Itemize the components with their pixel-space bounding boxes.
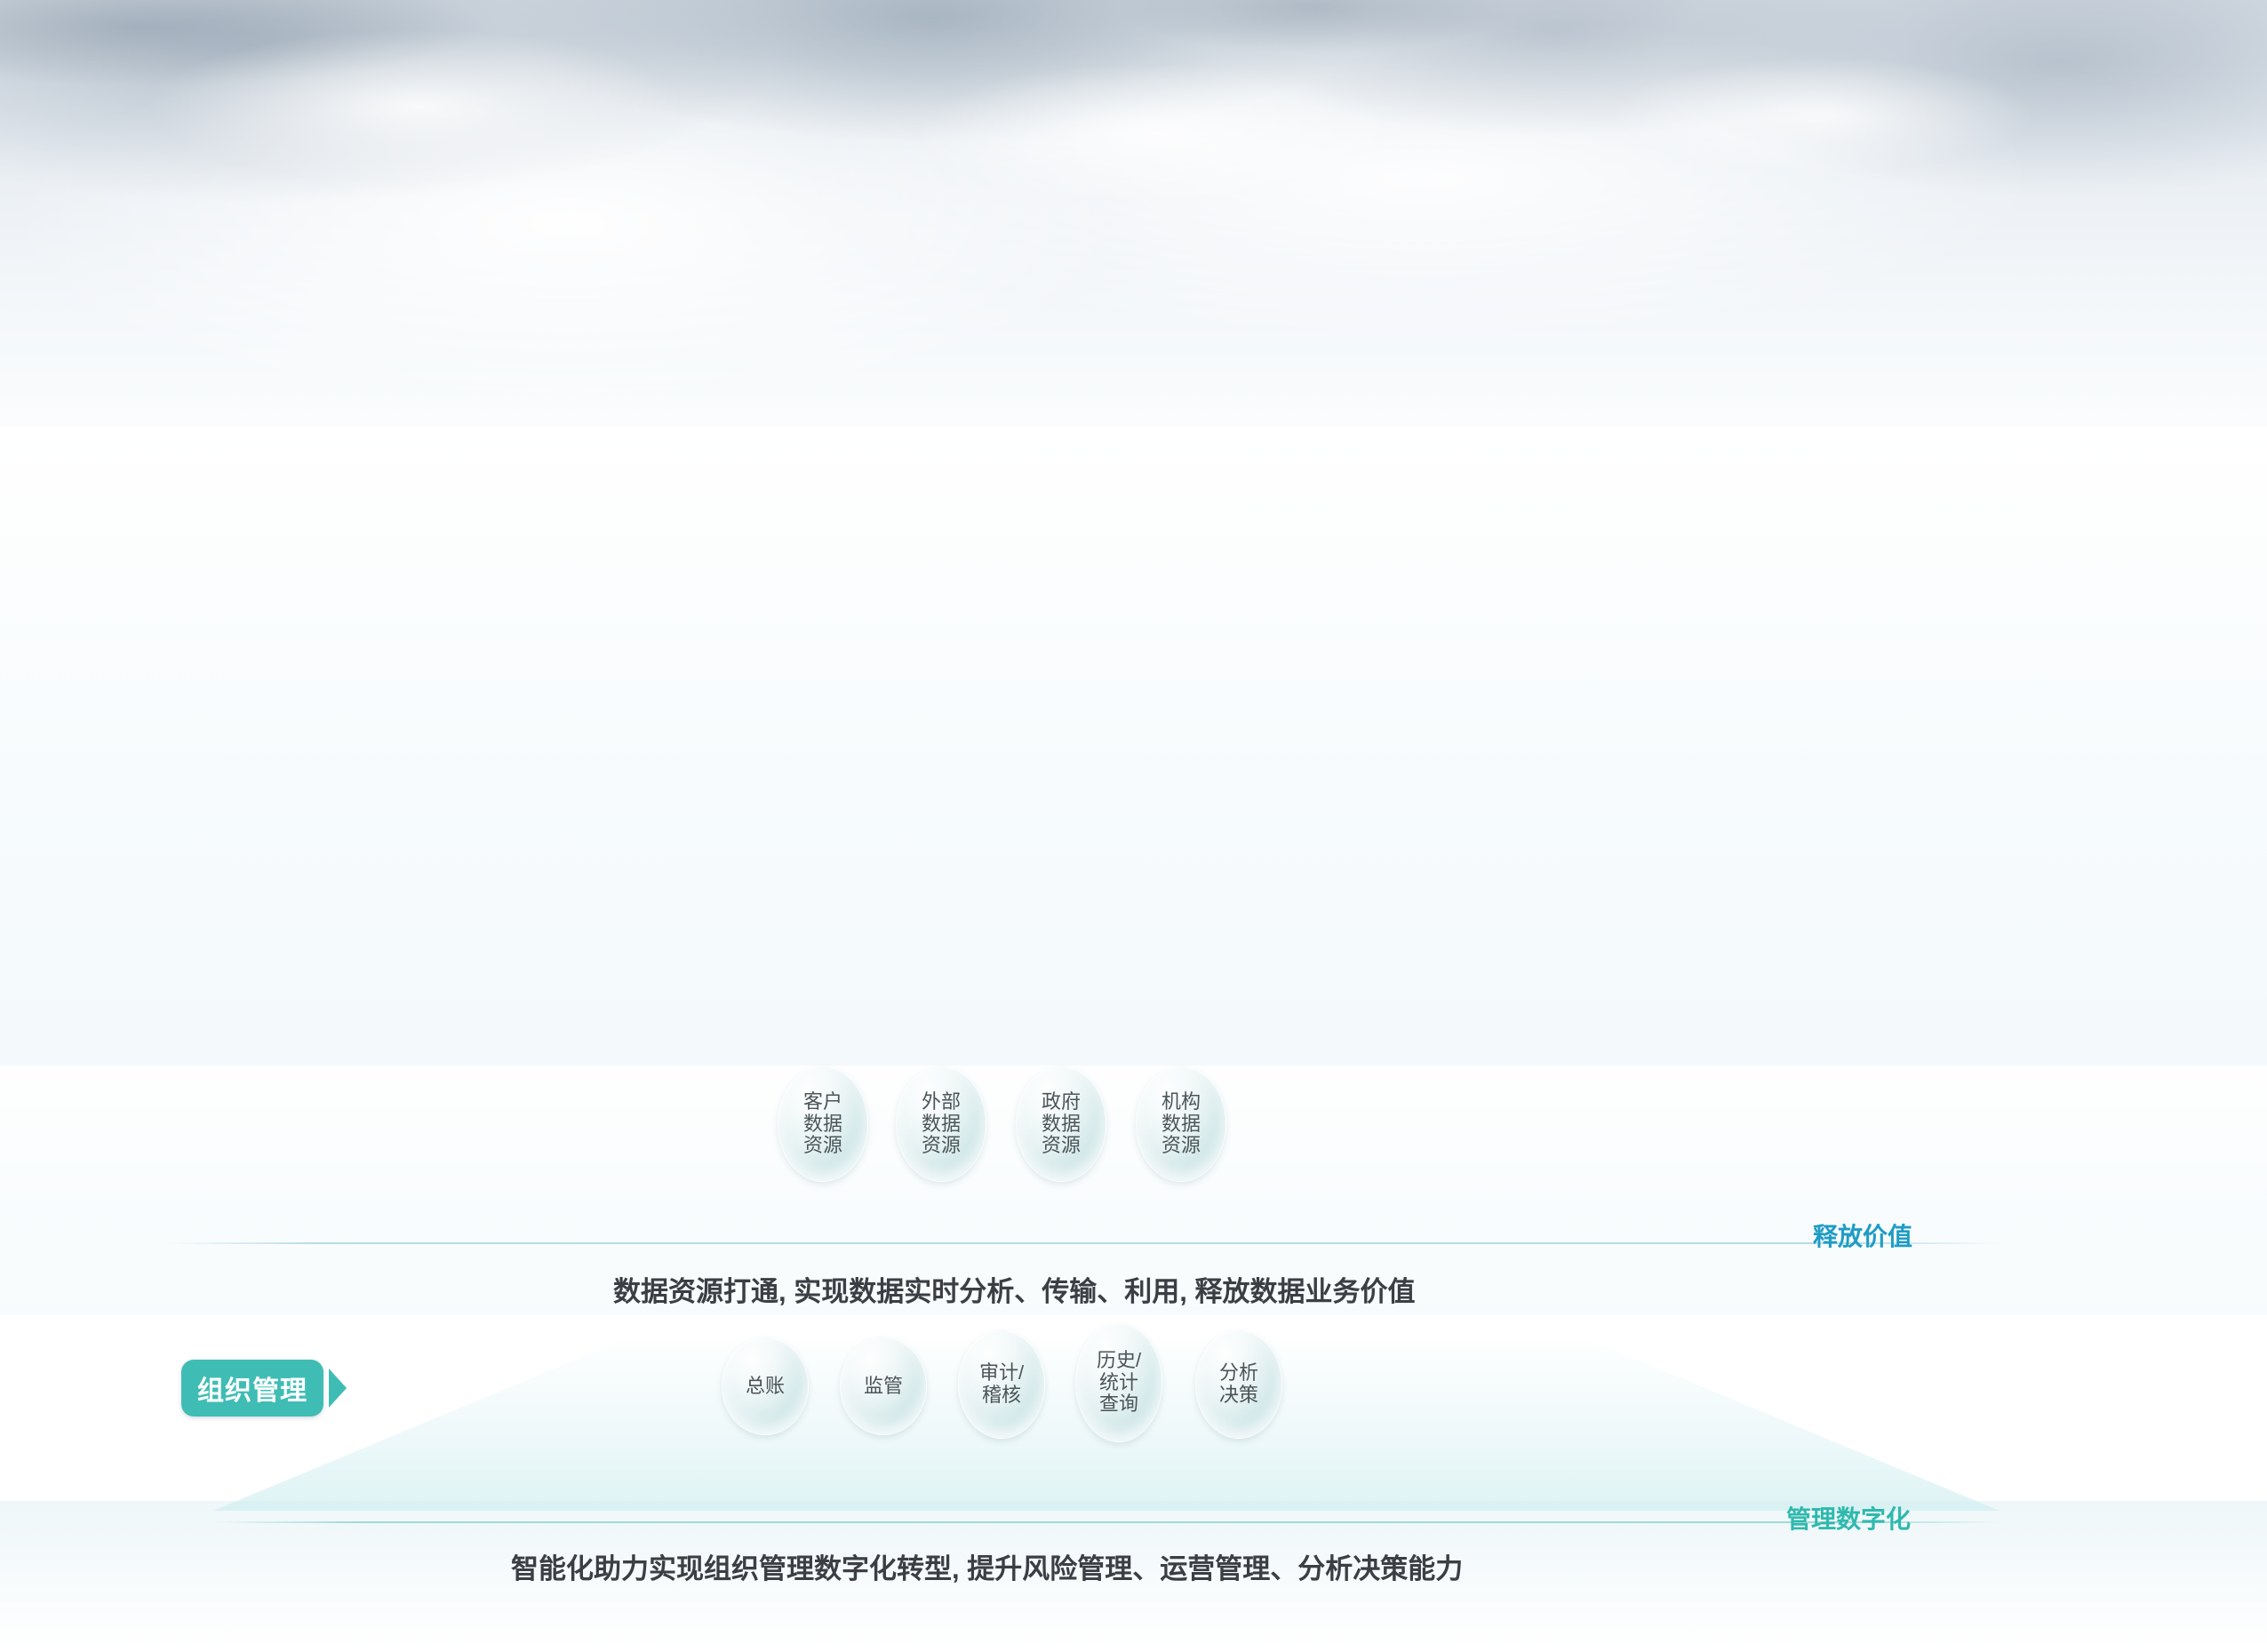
bubble-line: 客户: [803, 1091, 842, 1113]
bubble-line: 资源: [803, 1135, 842, 1157]
bubble-line: 查询: [1099, 1393, 1138, 1416]
bubble-line: 资源: [1042, 1135, 1081, 1157]
bubble[interactable]: 分析决策: [1195, 1330, 1282, 1439]
bubble-line: 稽核: [982, 1385, 1021, 1407]
bubble[interactable]: 历史/统计查询: [1075, 1323, 1162, 1442]
right-label-release-value: 释放价值: [1813, 1217, 1912, 1253]
bubble-line: 外部: [922, 1091, 961, 1113]
bubble-line: 监管: [864, 1376, 903, 1398]
layer-tag-organization-management[interactable]: 组织管理: [181, 1360, 323, 1417]
bubble-line: 决策: [1219, 1385, 1258, 1407]
bubble[interactable]: 客户数据资源: [778, 1066, 868, 1182]
bubble-line: 机构: [1161, 1091, 1201, 1113]
caption-resource-accumulation: 数据资源打通, 实现数据实时分析、传输、利用, 释放数据业务价值: [613, 1269, 1415, 1309]
section-divider: [213, 1521, 2000, 1523]
bubble-line: 数据: [1161, 1113, 1201, 1136]
cloud-wash: [0, 0, 2267, 302]
bubble-line: 资源: [1161, 1135, 1201, 1157]
layer-tag-label: 组织管理: [197, 1369, 307, 1408]
bubble-line: 政府: [1042, 1091, 1081, 1113]
bubble[interactable]: 政府数据资源: [1016, 1066, 1106, 1182]
section-divider: [169, 1242, 2000, 1244]
bubble[interactable]: 监管: [840, 1337, 927, 1435]
caption-organization-management: 智能化助力实现组织管理数字化转型, 提升风险管理、运营管理、分析决策能力: [511, 1546, 1463, 1586]
bubble-line: 总账: [746, 1376, 785, 1398]
bubble-line: 数据: [922, 1113, 961, 1136]
bubble[interactable]: 外部数据资源: [896, 1066, 986, 1182]
bubble-line: 审计/: [979, 1362, 1024, 1385]
bubble-line: 资源: [922, 1135, 961, 1157]
bubble[interactable]: 机构数据资源: [1136, 1066, 1226, 1182]
right-label-management-digitalization: 管理数字化: [1786, 1500, 1911, 1536]
bubble-line: 数据: [803, 1113, 842, 1136]
bubble-line: 统计: [1099, 1372, 1138, 1394]
bubble-line: 分析: [1219, 1362, 1258, 1385]
bubble-line: 数据: [1042, 1113, 1081, 1136]
layer-tag-pointer: [329, 1369, 347, 1408]
bubble[interactable]: 审计/稽核: [958, 1330, 1045, 1439]
bubble[interactable]: 总账: [722, 1337, 809, 1435]
bubble-line: 历史/: [1097, 1350, 1141, 1372]
